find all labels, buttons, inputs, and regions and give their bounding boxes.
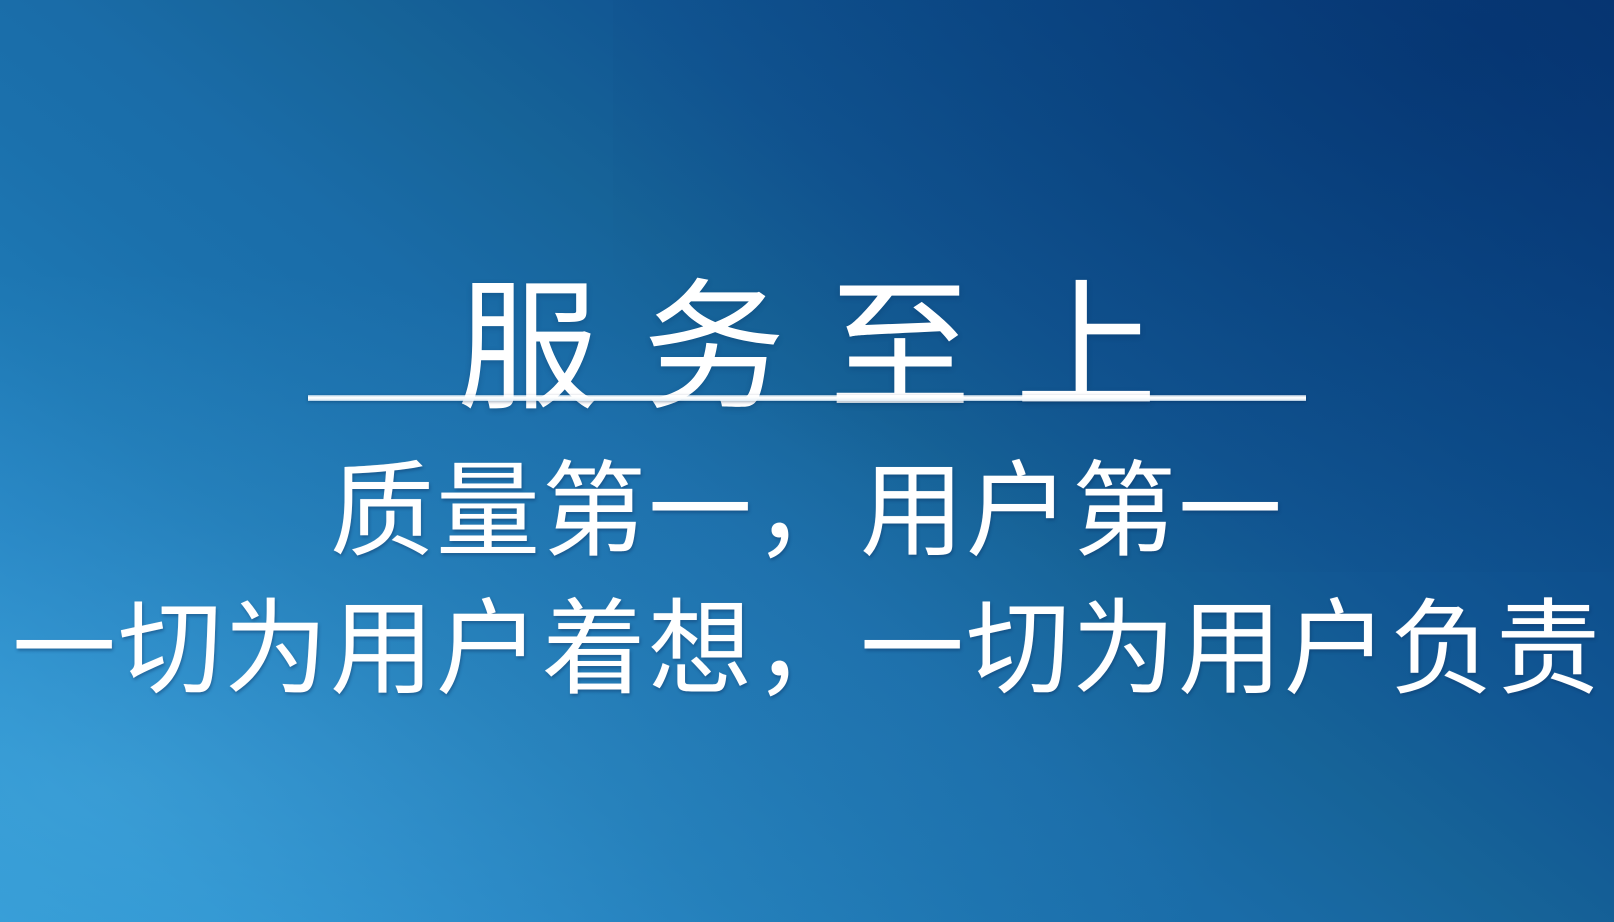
divider-container [0, 395, 1614, 401]
page-title: 服务至上 [0, 266, 1614, 432]
subtitle-line-2: 一切为用户着想，一切为用户负责 [0, 584, 1614, 716]
subtitle-line-1: 质量第一，用户第一 [0, 446, 1614, 578]
horizontal-divider [308, 395, 1306, 401]
poster-content: 服务至上 质量第一，用户第一 一切为用户着想，一切为用户负责 [0, 0, 1614, 922]
subtitle-block: 质量第一，用户第一 一切为用户着想，一切为用户负责 [0, 446, 1614, 716]
service-slogan-poster: 服务至上 质量第一，用户第一 一切为用户着想，一切为用户负责 [0, 0, 1614, 922]
